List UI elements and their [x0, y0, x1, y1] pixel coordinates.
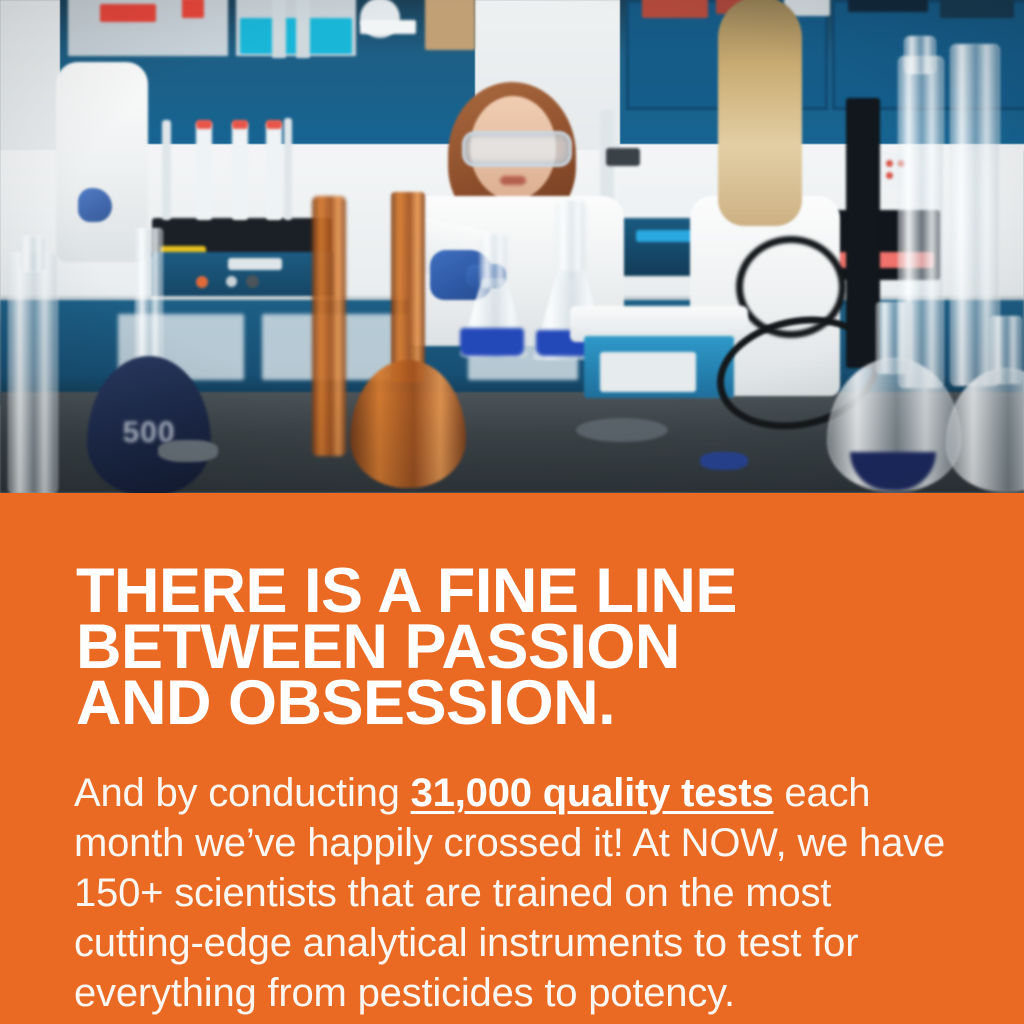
cabinet-item — [100, 4, 156, 22]
amber-volumetric-flask — [348, 192, 468, 493]
amber-column — [306, 196, 352, 493]
lab-photo: 500 — [0, 0, 1024, 493]
body-copy: And by conducting 31,000 quality tests e… — [74, 768, 954, 1018]
hair — [718, 0, 802, 226]
flask-neck — [391, 192, 425, 382]
outlet-light — [886, 160, 893, 167]
cabinet-item — [940, 0, 1014, 18]
lab-vial — [284, 118, 292, 220]
round-flask — [826, 302, 962, 493]
lab-vial — [266, 122, 282, 220]
flask-bulb — [946, 368, 1024, 492]
stand-clamp — [606, 148, 640, 166]
headline: There is a fine line between passion and… — [76, 563, 976, 731]
body-copy-before: And by conducting — [74, 771, 411, 815]
instrument-display — [228, 258, 282, 270]
blue-liquid — [460, 328, 524, 356]
balance-face — [600, 352, 696, 392]
instrument-knob — [226, 276, 237, 287]
flask-bulb — [350, 360, 466, 488]
cabinet-item — [296, 0, 310, 58]
flask-neck — [556, 200, 586, 280]
gloved-hand — [78, 188, 112, 222]
lab-vial — [162, 120, 171, 220]
cabinet-item — [360, 20, 416, 34]
safety-goggles — [462, 131, 572, 167]
watch-glass — [576, 418, 668, 442]
outlet-light — [886, 172, 893, 179]
bench-item — [700, 452, 748, 470]
lab-scene: 500 — [0, 0, 1024, 493]
cylinder-stopper — [904, 36, 936, 74]
mouth — [500, 176, 526, 185]
cabinet-item — [272, 0, 286, 58]
bench-item — [158, 440, 218, 462]
orange-text-panel: There is a fine line between passion and… — [0, 493, 1024, 1024]
cabinet-item — [182, 0, 204, 18]
cabinet-item — [425, 0, 475, 50]
cabinet-item — [642, 0, 708, 18]
instrument-display — [636, 230, 694, 242]
promo-card: 500 — [0, 0, 1024, 1024]
lab-vial — [232, 122, 248, 220]
erlenmeyer-flask — [456, 234, 530, 364]
quality-tests-highlight: 31,000 quality tests — [411, 771, 774, 815]
flask-neck — [135, 228, 163, 375]
vial-cap — [196, 120, 212, 129]
lab-vial — [196, 122, 212, 220]
vial-cap — [266, 120, 282, 129]
cylinder-neck — [20, 236, 46, 272]
glass-cylinder — [8, 252, 58, 493]
amber-tube — [312, 196, 346, 456]
cabinet-item — [848, 0, 928, 12]
vial-cap — [232, 120, 248, 129]
round-flask — [946, 316, 1024, 493]
instrument-knob — [246, 275, 259, 288]
